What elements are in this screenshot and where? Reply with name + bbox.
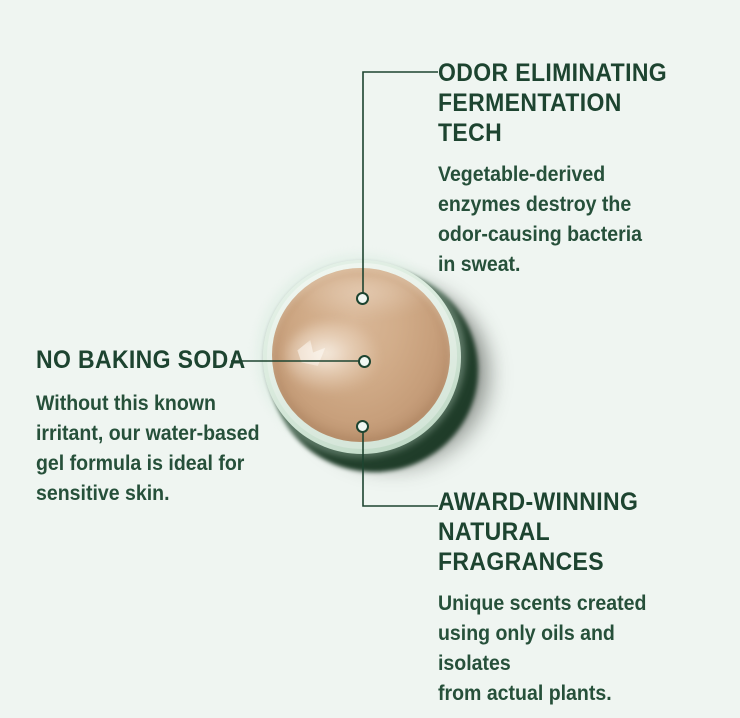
product-image: [250, 248, 500, 488]
callout-heading: AWARD-WINNING NATURAL FRAGRANCES: [438, 487, 686, 577]
callout-no-baking-soda: NO BAKING SODA Without this known irrita…: [36, 345, 286, 509]
callout-dot-natural-fragrances[interactable]: [356, 420, 369, 433]
infographic-canvas: ODOR ELIMINATING FERMENTATION TECH Veget…: [0, 0, 740, 718]
callout-heading: ODOR ELIMINATING FERMENTATION TECH: [438, 58, 686, 148]
callout-dot-no-baking-soda[interactable]: [358, 355, 371, 368]
callout-body: Vegetable-derived enzymes destroy the od…: [438, 160, 689, 280]
callout-body: Without this known irritant, our water-b…: [36, 389, 269, 509]
callout-heading: NO BAKING SODA: [36, 345, 266, 375]
callout-dot-fermentation-tech[interactable]: [356, 292, 369, 305]
callout-odor-eliminating-fermentation-tech: ODOR ELIMINATING FERMENTATION TECH Veget…: [438, 58, 708, 280]
callout-award-winning-natural-fragrances: AWARD-WINNING NATURAL FRAGRANCES Unique …: [438, 487, 708, 709]
callout-body: Unique scents created using only oils an…: [438, 589, 689, 709]
